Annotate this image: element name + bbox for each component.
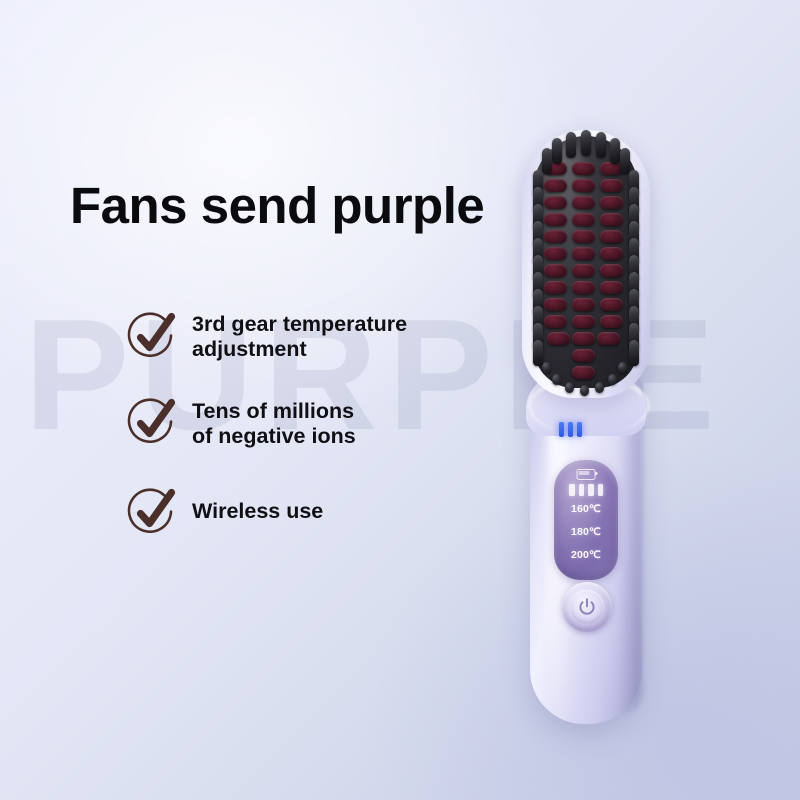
bristle-pin [533, 340, 543, 366]
bristle-pin [566, 132, 576, 158]
heating-cell [600, 230, 623, 243]
heating-cell [544, 230, 567, 243]
bristle-pin [629, 340, 639, 366]
list-item: 3rd gear temperature adjustment [124, 310, 484, 366]
heating-cell [572, 349, 595, 362]
temperature-setting-2: 180℃ [554, 527, 618, 538]
heating-cell [600, 281, 623, 294]
heating-cell [600, 315, 623, 328]
battery-segment-group [569, 484, 603, 496]
device-display-panel: 160℃ 180℃ 200℃ [554, 460, 618, 580]
list-item: Tens of millions of negative ions [124, 396, 484, 452]
heating-cell [572, 332, 595, 345]
heating-cell [572, 264, 595, 277]
led-indicator [568, 422, 573, 437]
led-indicator [559, 422, 564, 437]
heating-cell [544, 247, 567, 260]
heating-cell [544, 196, 567, 209]
bristle-pin [610, 138, 620, 164]
heating-cell [600, 213, 623, 226]
heating-cell [572, 230, 595, 243]
heating-cell [544, 179, 567, 192]
heating-cell [572, 213, 595, 226]
bristle-pin [618, 362, 627, 373]
heating-cell [572, 196, 595, 209]
heating-cell [544, 281, 567, 294]
check-circle-icon [124, 310, 182, 366]
heating-cell [544, 264, 567, 277]
bristle-pin [608, 374, 617, 385]
temperature-setting-1: 160℃ [554, 504, 618, 515]
product-poster: PURPLE Fans send purple 3rd gear tempera… [0, 0, 800, 800]
product-image: 160℃ 180℃ 200℃ [502, 126, 682, 726]
temperature-setting-3: 200℃ [554, 550, 618, 561]
battery-segment [598, 484, 604, 496]
temperature-readout-group: 160℃ 180℃ 200℃ [554, 504, 618, 561]
bristle-pin [542, 148, 552, 174]
check-circle-icon [124, 486, 182, 542]
feature-list: 3rd gear temperature adjustment Tens of … [124, 310, 484, 542]
battery-segment [569, 484, 575, 496]
power-icon [577, 597, 597, 617]
heating-cell [600, 196, 623, 209]
list-item: Wireless use [124, 486, 484, 542]
list-item-label: Wireless use [192, 486, 323, 524]
list-item-label: 3rd gear temperature adjustment [192, 310, 407, 362]
heating-cell [600, 179, 623, 192]
bristle-pin [596, 132, 606, 158]
led-indicator [577, 422, 582, 437]
heating-cell [600, 264, 623, 277]
heating-cell [572, 179, 595, 192]
bristle-pin [552, 374, 561, 385]
heating-cell [572, 281, 595, 294]
heating-cell [572, 247, 595, 260]
list-item-label: Tens of millions of negative ions [192, 396, 356, 449]
page-title: Fans send purple [70, 176, 484, 235]
bristle-pin [581, 130, 591, 156]
heating-cell [597, 332, 620, 345]
battery-segment [588, 484, 594, 496]
heating-cell [600, 247, 623, 260]
battery-icon [577, 469, 596, 480]
check-circle-icon [124, 396, 182, 452]
heating-cell [600, 298, 623, 311]
bristle-pin [552, 138, 562, 164]
heating-cell [544, 298, 567, 311]
bristle-pin [595, 382, 604, 393]
heating-cell [572, 298, 595, 311]
power-button[interactable] [562, 582, 612, 632]
heating-cell [572, 162, 595, 175]
heating-cell [547, 332, 570, 345]
heating-cell [544, 315, 567, 328]
indicator-led-group [559, 422, 582, 437]
battery-fill [579, 471, 590, 474]
heating-cell [572, 366, 595, 379]
brush-head [518, 126, 654, 398]
bristle-pin [620, 148, 630, 174]
battery-segment [579, 484, 585, 496]
bristle-pin [542, 362, 551, 373]
heating-cell [544, 213, 567, 226]
heating-cell [572, 315, 595, 328]
bristle-pin [565, 382, 574, 393]
power-button-inner [570, 590, 604, 624]
bristle-pin [580, 385, 589, 396]
